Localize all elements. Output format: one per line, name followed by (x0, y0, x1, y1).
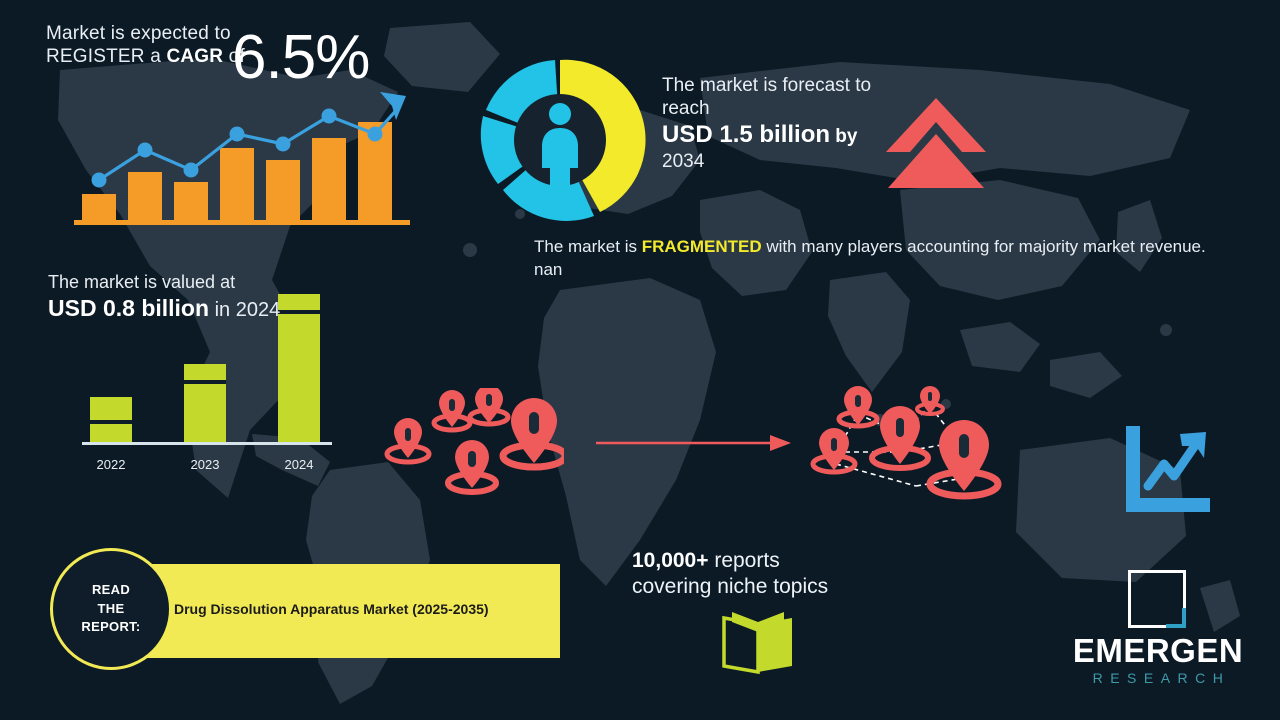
open-book-icon (718, 610, 798, 674)
valuation-line1: The market is valued at (48, 272, 368, 294)
valuation-year: in 2024 (209, 299, 280, 321)
year-axis-label-2023: 2023 (175, 457, 235, 472)
upward-chevrons-icon (884, 96, 988, 190)
reports-line2: covering niche topics (632, 574, 828, 600)
infographic-canvas: Market is expected to REGISTER a CAGR of… (0, 0, 1280, 720)
logo-accent-corner (1166, 608, 1186, 628)
cagr-keyword: CAGR (166, 46, 223, 67)
cagr-caption-line2-pre: REGISTER a (46, 46, 166, 67)
logo-brand-name: EMERGEN (1060, 632, 1256, 670)
year-axis-label-2022: 2022 (81, 457, 141, 472)
emergen-research-logo: EMERGEN RESEARCH (1060, 570, 1256, 698)
forecast-line1: The market is forecast to (662, 74, 892, 97)
reports-line1-rest: reports (709, 549, 780, 572)
valuation-amount: USD 0.8 billion (48, 295, 209, 321)
forecast-year: 2034 (662, 150, 892, 173)
market-growth-chart (74, 84, 410, 226)
cagr-caption-line1: Market is expected to (46, 22, 246, 45)
market-share-donut-chart (472, 52, 648, 228)
forecast-line2: reach (662, 97, 892, 120)
logo-square-icon (1128, 570, 1186, 628)
fragmentation-statement: The market is FRAGMENTED with many playe… (534, 236, 1206, 282)
cagr-caption: Market is expected to REGISTER a CAGR of (46, 22, 246, 68)
cta-circle-line3: REPORT: (81, 618, 140, 637)
cagr-caption-line2: REGISTER a CAGR of (46, 45, 246, 68)
read-the-report-label: READ THE REPORT: (81, 581, 140, 638)
market-pins-networked (806, 386, 1012, 504)
year-axis-label-2024: 2024 (269, 457, 329, 472)
valuation-caption: The market is valued at USD 0.8 billion … (48, 272, 368, 322)
forecast-caption: The market is forecast to reach USD 1.5 … (662, 74, 892, 173)
fragmentation-pre: The market is (534, 237, 642, 256)
forecast-by-label: by (830, 126, 857, 147)
forecast-amount: USD 1.5 billion (662, 121, 830, 148)
logo-brand-subtitle: RESEARCH (1060, 670, 1256, 686)
reports-caption: 10,000+ reports covering niche topics (632, 548, 828, 599)
forecast-amount-row: USD 1.5 billion by (662, 120, 892, 149)
cta-circle-line1: READ (81, 581, 140, 600)
reports-line1: 10,000+ reports (632, 548, 828, 574)
growth-chart-icon (1120, 424, 1212, 514)
chart-trend-line (1148, 444, 1196, 486)
reports-count: 10,000+ (632, 549, 709, 572)
valuation-amount-row: USD 0.8 billion in 2024 (48, 294, 368, 322)
report-cta-banner[interactable]: Drug Dissolution Apparatus Market (2025-… (108, 564, 560, 658)
flow-arrow-icon (594, 432, 794, 454)
report-title: Drug Dissolution Apparatus Market (2025-… (174, 601, 489, 617)
market-pins-scattered (382, 388, 564, 498)
read-the-report-button[interactable]: READ THE REPORT: (50, 548, 172, 670)
year-chart-baseline (82, 442, 332, 445)
cta-circle-line2: THE (81, 600, 140, 619)
growth-chart-baseline (74, 220, 410, 225)
cagr-value: 6.5% (232, 20, 369, 96)
fragmentation-keyword: FRAGMENTED (642, 237, 762, 256)
